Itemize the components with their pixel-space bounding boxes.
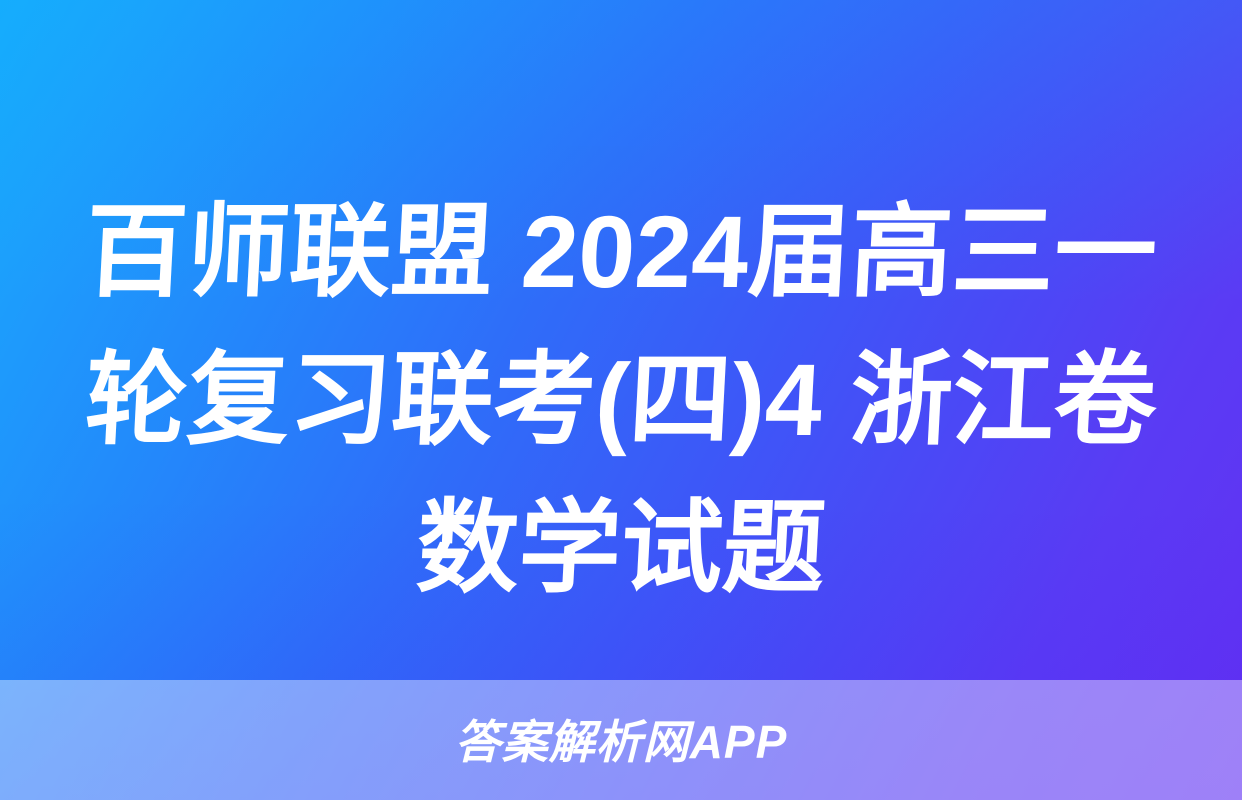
watermark-brand-label: 答案解析网APP — [455, 719, 788, 765]
exam-cover-poster: 百师联盟 2024届高三一 轮复习联考(四)4 浙江卷 数学试题 答案解析网AP… — [0, 0, 1242, 800]
watermark-band: 答案解析网APP — [0, 680, 1242, 800]
title-line-1: 百师联盟 2024届高三一 — [12, 178, 1230, 326]
page-title: 百师联盟 2024届高三一 轮复习联考(四)4 浙江卷 数学试题 — [0, 178, 1242, 622]
title-line-2: 轮复习联考(四)4 浙江卷 — [12, 326, 1230, 474]
title-line-3: 数学试题 — [12, 474, 1230, 622]
